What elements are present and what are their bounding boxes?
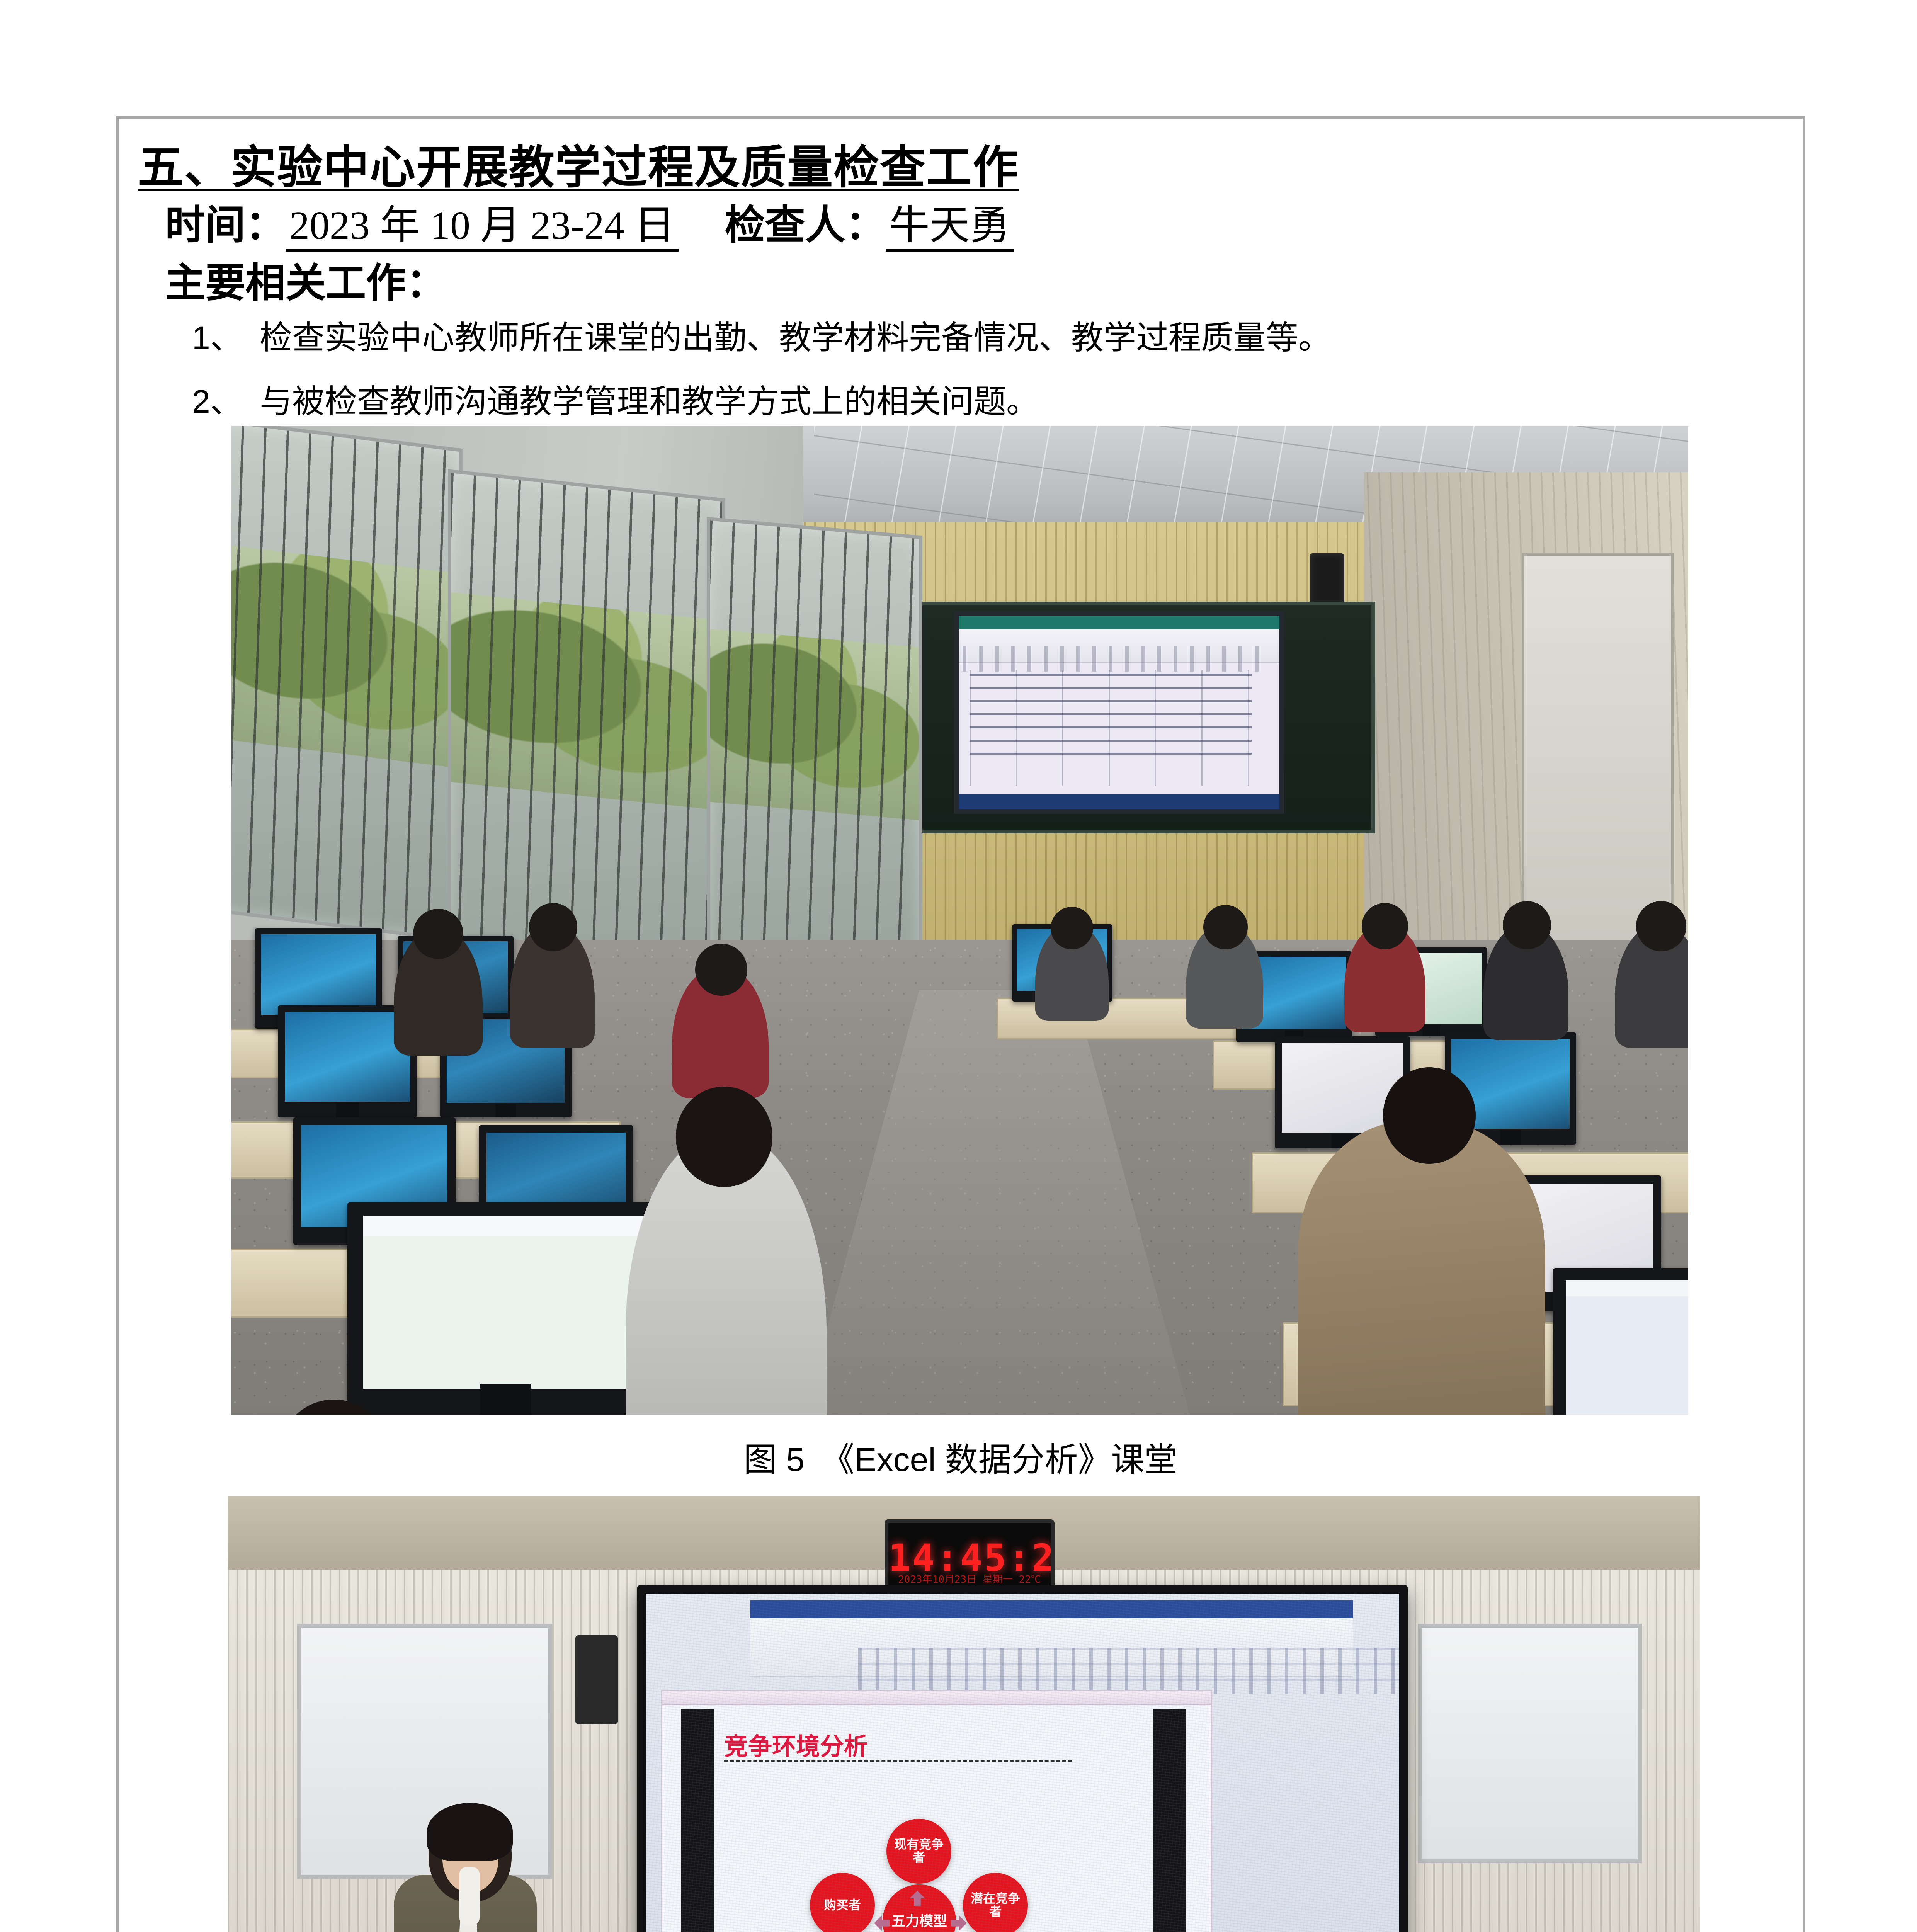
inspector-value: 牛天勇 bbox=[886, 204, 1014, 252]
list-item-number: 1、 bbox=[192, 312, 260, 359]
document-page: 五、实验中心开展教学过程及质量检查工作 时间： 2023 年 10 月 23-2… bbox=[116, 116, 1805, 1932]
microphone-icon bbox=[459, 1867, 480, 1925]
list-item-text: 检查实验中心教师所在课堂的出勤、教学材料完备情况、教学过程质量等。 bbox=[260, 320, 1331, 356]
list-item-number: 2、 bbox=[192, 376, 260, 422]
inspector-label: 检查人： bbox=[725, 192, 886, 250]
list-item-text: 与被检查教师沟通教学管理和教学方式上的相关问题。 bbox=[260, 383, 1039, 420]
subheading: 主要相关工作： bbox=[165, 250, 446, 308]
list-item: 1、检查实验中心教师所在课堂的出勤、教学材料完备情况、教学过程质量等。 bbox=[192, 312, 1331, 359]
meta-line: 时间： 2023 年 10 月 23-24 日 检查人： 牛天勇 bbox=[165, 192, 1014, 252]
figure-caption: 图 5 《Excel 数据分析》课堂 bbox=[119, 1432, 1803, 1481]
whiteboard bbox=[297, 1624, 552, 1879]
smart-display: 竞争环境分析 现有竞争者 购买者 潜在竞争者 五力模型 供应商 替代品 bbox=[637, 1585, 1408, 1932]
time-value: 2023 年 10 月 23-24 日 bbox=[286, 204, 679, 252]
figure-photo-lecture-hall: 14:45:25 2023年10月23日 星期一 22℃ 竞争环境分析 bbox=[228, 1496, 1700, 1932]
clock-date: 2023年10月23日 星期一 22℃ bbox=[888, 1571, 1051, 1586]
wall-speaker-icon bbox=[575, 1635, 618, 1724]
student-figure bbox=[1298, 1121, 1545, 1415]
whiteboard bbox=[1418, 1624, 1642, 1863]
projector-screen bbox=[954, 611, 1284, 814]
figure-photo-computer-lab bbox=[231, 426, 1688, 1415]
digital-clock: 14:45:25 2023年10月23日 星期一 22℃ bbox=[885, 1519, 1055, 1593]
time-label: 时间： bbox=[165, 192, 286, 250]
list-item: 2、与被检查教师沟通教学管理和教学方式上的相关问题。 bbox=[192, 376, 1039, 422]
page-title: 五、实验中心开展教学过程及质量检查工作 bbox=[138, 130, 1019, 196]
